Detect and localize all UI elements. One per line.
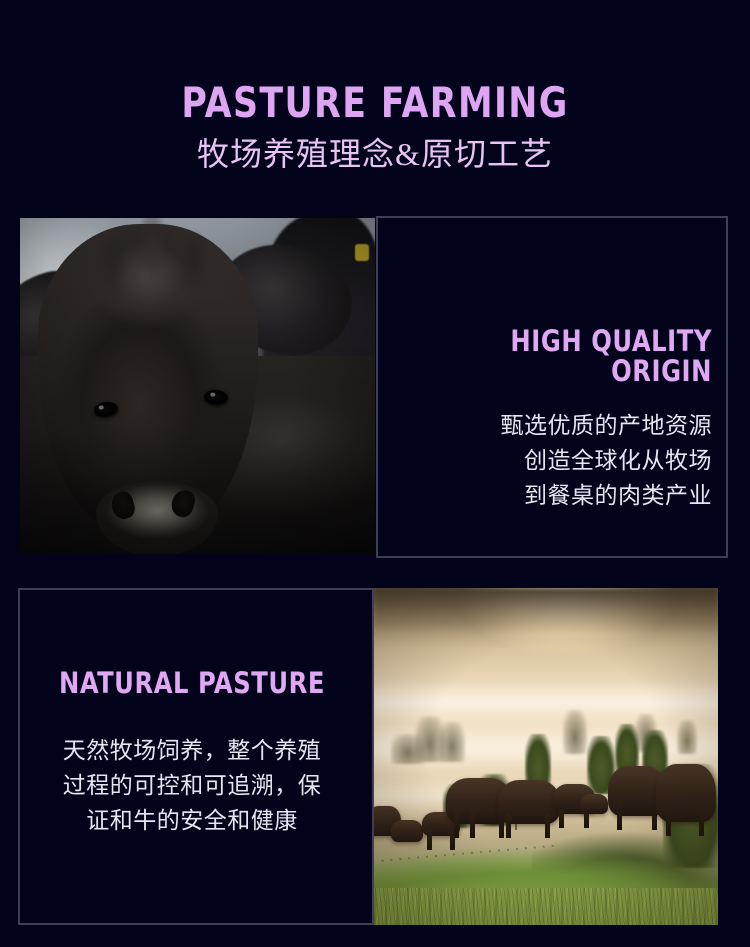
page-title: PASTURE FARMING — [30, 82, 720, 124]
body-line: 到餐桌的肉类产业 — [396, 479, 712, 514]
pasture-landscape-photo — [374, 588, 718, 925]
natural-pasture-heading: NATURAL PASTURE — [45, 668, 339, 698]
high-quality-origin-heading: HIGH QUALITY ORIGIN — [418, 326, 712, 387]
body-line: 创造全球化从牧场 — [396, 444, 712, 479]
high-quality-origin-text-block: HIGH QUALITY ORIGIN 甄选优质的产地资源 创造全球化从牧场 到… — [396, 326, 712, 514]
cow-photo-vignette — [20, 218, 375, 554]
promo-page: PASTURE FARMING 牧场养殖理念&原切工艺 HIGH QUALITY… — [0, 0, 750, 947]
body-line: 证和牛的安全和健康 — [34, 804, 350, 839]
page-subtitle: 牧场养殖理念&原切工艺 — [0, 136, 750, 173]
page-header: PASTURE FARMING 牧场养殖理念&原切工艺 — [0, 0, 750, 173]
cow-closeup-photo — [20, 218, 375, 554]
body-line: 过程的可控和可追溯，保 — [34, 769, 350, 804]
body-line: 天然牧场饲养，整个养殖 — [34, 734, 350, 769]
high-quality-origin-body: 甄选优质的产地资源 创造全球化从牧场 到餐桌的肉类产业 — [396, 409, 712, 514]
natural-pasture-text-block: NATURAL PASTURE 天然牧场饲养，整个养殖 过程的可控和可追溯，保 … — [34, 668, 350, 839]
body-line: 甄选优质的产地资源 — [396, 409, 712, 444]
natural-pasture-body: 天然牧场饲养，整个养殖 过程的可控和可追溯，保 证和牛的安全和健康 — [34, 734, 350, 839]
pasture-photo-vignette — [374, 588, 718, 925]
